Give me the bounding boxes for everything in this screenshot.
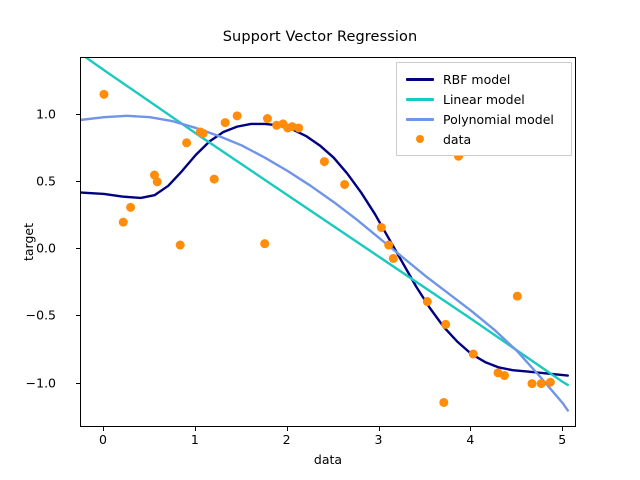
x-tick-mark <box>562 427 563 431</box>
legend-line-swatch <box>405 89 435 109</box>
x-tick-mark <box>379 427 380 431</box>
data-point <box>176 241 185 250</box>
y-tick-label: 0.0 <box>0 241 56 256</box>
data-point <box>546 378 555 387</box>
data-point <box>320 157 329 166</box>
y-tick-mark <box>76 114 80 115</box>
x-tick-mark <box>103 427 104 431</box>
y-tick-label: 0.5 <box>0 173 56 188</box>
data-point <box>527 379 536 388</box>
y-tick-mark <box>76 181 80 182</box>
data-point <box>537 379 546 388</box>
data-point <box>439 398 448 407</box>
data-point <box>210 175 219 184</box>
x-tick-label: 1 <box>175 432 215 447</box>
data-point <box>469 350 478 359</box>
data-point <box>513 292 522 301</box>
data-point <box>119 218 128 227</box>
figure-canvas: Support Vector Regression target data 1.… <box>0 0 640 480</box>
data-point <box>294 123 303 132</box>
legend-line-icon <box>406 78 434 81</box>
data-point <box>221 118 230 127</box>
data-point <box>153 177 162 186</box>
x-tick-label: 2 <box>267 432 307 447</box>
page-title: Support Vector Regression <box>0 29 640 45</box>
legend-label: RBF model <box>443 72 510 87</box>
data-point <box>423 297 432 306</box>
legend-label: Polynomial model <box>443 112 554 127</box>
x-tick-label: 3 <box>359 432 399 447</box>
data-point <box>384 241 393 250</box>
data-point <box>99 90 108 99</box>
legend-marker-swatch <box>405 129 435 149</box>
y-tick-label: −1.0 <box>0 375 56 390</box>
x-tick-label: 0 <box>83 432 123 447</box>
legend-line-swatch <box>405 109 435 129</box>
data-point <box>126 203 135 212</box>
x-tick-mark <box>287 427 288 431</box>
legend-line-icon <box>406 98 434 101</box>
data-point <box>199 129 208 138</box>
legend-item-linear-model[interactable]: Linear model <box>405 89 563 109</box>
legend-item-data[interactable]: data <box>405 129 563 149</box>
y-tick-mark <box>76 248 80 249</box>
x-tick-mark <box>470 427 471 431</box>
legend-label: data <box>443 132 471 147</box>
legend-line-icon <box>406 118 434 121</box>
legend-line-swatch <box>405 69 435 89</box>
data-point <box>389 254 398 263</box>
x-axis-label: data <box>80 452 576 467</box>
y-tick-mark <box>76 383 80 384</box>
x-tick-label: 5 <box>542 432 582 447</box>
legend-label: Linear model <box>443 92 525 107</box>
y-tick-label: −0.5 <box>0 308 56 323</box>
legend-dot-icon <box>416 135 424 143</box>
legend: RBF modelLinear modelPolynomial modeldat… <box>396 62 572 156</box>
legend-item-rbf-model[interactable]: RBF model <box>405 69 563 89</box>
y-tick-label: 1.0 <box>0 106 56 121</box>
data-point <box>260 239 269 248</box>
x-tick-mark <box>195 427 196 431</box>
x-tick-label: 4 <box>450 432 490 447</box>
y-tick-mark <box>76 315 80 316</box>
legend-item-polynomial-model[interactable]: Polynomial model <box>405 109 563 129</box>
data-point <box>500 371 509 380</box>
data-point <box>233 111 242 120</box>
data-point <box>340 180 349 189</box>
data-point <box>182 138 191 147</box>
data-point <box>263 114 272 123</box>
data-point <box>441 320 450 329</box>
data-point <box>377 223 386 232</box>
